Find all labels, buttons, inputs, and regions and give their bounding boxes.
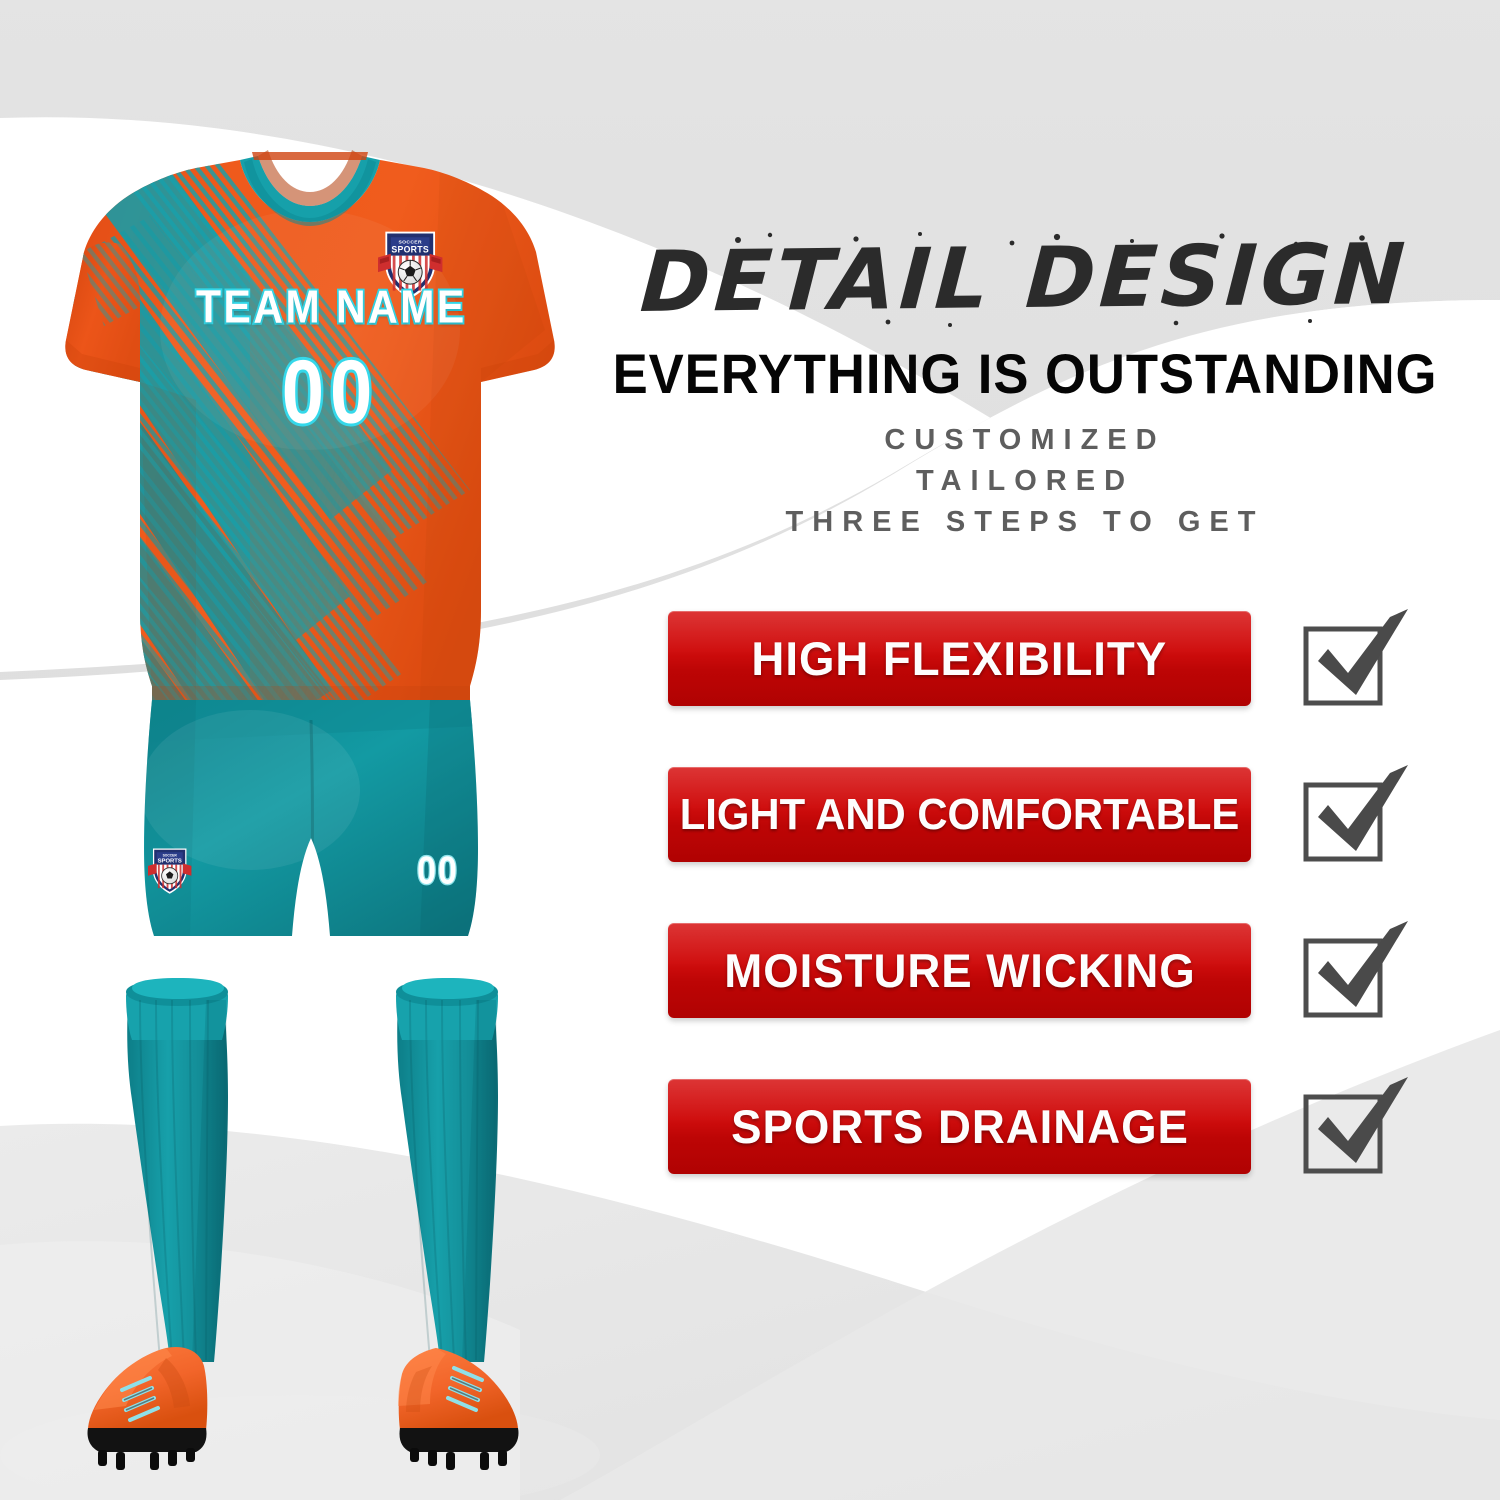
feature-label: SPORTS DRAINAGE: [731, 1099, 1189, 1154]
uniform-illustration: SOCCER SPORTS: [0, 0, 620, 1500]
shorts-number: 00: [398, 851, 478, 890]
checkmark-icon[interactable]: [1298, 759, 1414, 875]
shorts: [140, 686, 480, 936]
product-marketing-banner: SOCCER SPORTS: [0, 0, 1500, 1500]
jersey-team-name: TEAM NAME: [196, 285, 466, 331]
feature-label: MOISTURE WICKING: [724, 943, 1195, 998]
feature-bar-light-and-comfortable[interactable]: LIGHT AND COMFORTABLE: [668, 767, 1251, 862]
feature-row: LIGHT AND COMFORTABLE: [668, 767, 1488, 923]
marketing-copy-panel: DETAIL DESIGN EVERYTHING IS OUTSTANDING: [540, 0, 1500, 1500]
feature-list: HIGH FLEXIBILITY LIGHT AND COMFORTABLE: [668, 611, 1488, 1235]
feature-label: HIGH FLEXIBILITY: [752, 631, 1168, 686]
feature-bar-moisture-wicking[interactable]: MOISTURE WICKING: [668, 923, 1251, 1018]
feature-bar-high-flexibility[interactable]: HIGH FLEXIBILITY: [668, 611, 1251, 706]
checkmark-icon[interactable]: [1298, 603, 1414, 719]
jersey-number: 00: [215, 348, 445, 438]
brush-ink-flecks: [620, 226, 1430, 336]
uniform-product-photo: SOCCER SPORTS: [0, 0, 620, 1500]
checkmark-icon[interactable]: [1298, 1071, 1414, 1187]
checkmark-icon[interactable]: [1298, 915, 1414, 1031]
tagline-item-2: TAILORED: [550, 461, 1500, 502]
logo-main-text: SPORTS: [391, 244, 429, 254]
feature-label: LIGHT AND COMFORTABLE: [680, 790, 1240, 840]
svg-text:SPORTS: SPORTS: [158, 858, 182, 864]
feature-row: MOISTURE WICKING: [668, 923, 1488, 1079]
socks: [126, 978, 498, 1362]
feature-row: SPORTS DRAINAGE: [668, 1079, 1488, 1235]
tagline-item-1: CUSTOMIZED: [550, 420, 1500, 461]
tagline-list: CUSTOMIZED TAILORED THREE STEPS TO GET: [550, 420, 1500, 544]
soccer-cleats: [88, 1347, 519, 1470]
feature-row: HIGH FLEXIBILITY: [668, 611, 1488, 767]
tagline-item-3: THREE STEPS TO GET: [550, 502, 1500, 543]
page-subtitle: EVERYTHING IS OUTSTANDING: [579, 345, 1472, 404]
svg-text:SOCCER: SOCCER: [163, 854, 178, 858]
feature-bar-sports-drainage[interactable]: SPORTS DRAINAGE: [668, 1079, 1251, 1174]
right-cleat: [398, 1348, 519, 1470]
left-cleat: [88, 1347, 208, 1470]
